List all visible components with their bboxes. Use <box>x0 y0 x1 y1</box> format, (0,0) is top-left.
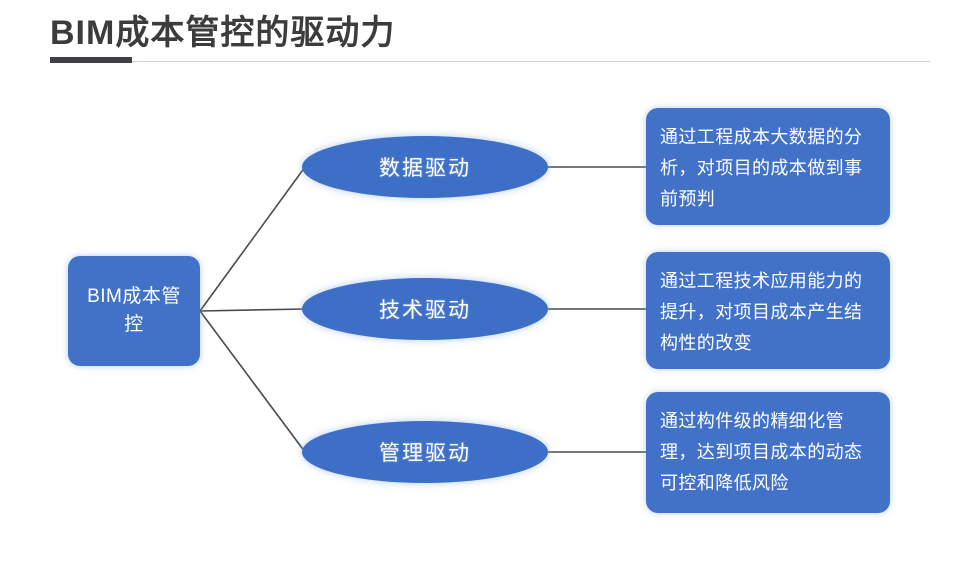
description-text: 通过工程技术应用能力的提升，对项目成本产生结构性的改变 <box>660 266 878 359</box>
description-box-technology-driven[interactable]: 通过工程技术应用能力的提升，对项目成本产生结构性的改变 <box>646 252 890 369</box>
description-text: 通过工程成本大数据的分析，对项目的成本做到事前预判 <box>660 122 878 215</box>
connector-root-to-branch-3 <box>200 311 305 452</box>
connector-root-to-branch-1 <box>200 167 305 311</box>
description-text: 通过构件级的精细化管理，达到项目成本的动态可控和降低风险 <box>660 406 878 499</box>
connector-root-to-branch-2 <box>200 309 305 311</box>
branch-node-label: 管理驱动 <box>379 437 471 467</box>
root-node-bim-cost-control[interactable]: BIM成本管控 <box>68 256 200 366</box>
description-box-management-driven[interactable]: 通过构件级的精细化管理，达到项目成本的动态可控和降低风险 <box>646 392 890 513</box>
branch-node-data-driven[interactable]: 数据驱动 <box>302 136 548 198</box>
root-node-label: BIM成本管控 <box>78 283 190 339</box>
description-box-data-driven[interactable]: 通过工程成本大数据的分析，对项目的成本做到事前预判 <box>646 108 890 225</box>
slide-canvas: BIM成本管控的驱动力 BIM成本管控 数据驱动 技术驱动 管理驱动 通过工程成… <box>0 0 980 565</box>
branch-node-label: 数据驱动 <box>379 152 471 182</box>
branch-node-management-driven[interactable]: 管理驱动 <box>302 421 548 483</box>
branch-node-label: 技术驱动 <box>379 294 471 324</box>
branch-node-technology-driven[interactable]: 技术驱动 <box>302 278 548 340</box>
